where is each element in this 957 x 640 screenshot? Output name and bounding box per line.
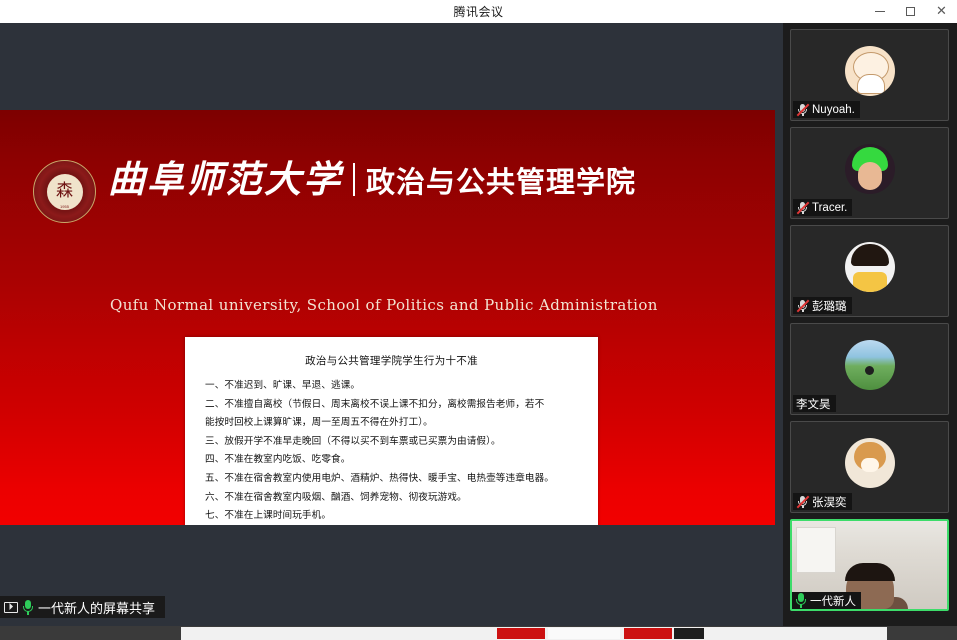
- college-name: 政治与公共管理学院: [366, 169, 636, 198]
- minimize-button[interactable]: [864, 0, 895, 23]
- stage-top-letterbox: [0, 23, 783, 110]
- participant-name-badge: 张淏奕: [793, 493, 852, 510]
- participant-name: 张淏奕: [812, 494, 847, 510]
- document-title: 政治与公共管理学院学生行为十不准: [205, 353, 578, 368]
- mic-off-icon: [796, 299, 809, 313]
- participant-name: Tracer.: [812, 202, 847, 214]
- maximize-button[interactable]: [895, 0, 926, 23]
- mic-off-icon: [796, 495, 809, 509]
- taskbar-peek-strip: [0, 626, 957, 640]
- window-titlebar: 腾讯会议 ✕: [0, 0, 957, 23]
- participant-tile[interactable]: Tracer.: [790, 127, 949, 219]
- taskbar-thumbnail[interactable]: [548, 628, 620, 639]
- document-line: 一、不准迟到、旷课、早退、逃课。: [205, 377, 578, 396]
- participant-tile[interactable]: 李文昊: [790, 323, 949, 415]
- close-button[interactable]: ✕: [926, 0, 957, 23]
- participant-tile-active-speaker[interactable]: 一代新人: [790, 519, 949, 611]
- document-line: 七、不准在上课时间玩手机。: [205, 507, 578, 525]
- screen-share-icon: [4, 602, 18, 613]
- participant-tile[interactable]: 张淏奕: [790, 421, 949, 513]
- avatar: [845, 46, 895, 96]
- participant-name: 李文昊: [796, 396, 831, 412]
- mic-off-icon: [796, 201, 809, 215]
- close-icon: ✕: [936, 5, 947, 18]
- participant-name-badge: 彭璐璐: [793, 297, 852, 314]
- window-title: 腾讯会议: [453, 3, 503, 20]
- title-divider: [353, 163, 355, 196]
- minimize-icon: [875, 11, 885, 12]
- participant-tile[interactable]: 彭璐璐: [790, 225, 949, 317]
- avatar: [845, 340, 895, 390]
- document-line: 四、不准在教室内吃饭、吃零食。: [205, 451, 578, 470]
- maximize-icon: [906, 7, 915, 16]
- taskbar-thumbnail[interactable]: [624, 628, 672, 639]
- participant-name-badge: Tracer.: [793, 199, 852, 216]
- participant-name-badge: 李文昊: [793, 395, 836, 412]
- participant-name-badge: Nuyoah.: [793, 101, 860, 118]
- university-name: 曲阜师范大学: [108, 161, 342, 198]
- university-emblem-icon: 森 1955: [33, 160, 96, 223]
- banner-subtitle: Qufu Normal university, School of Politi…: [110, 296, 658, 314]
- rules-document: 政治与公共管理学院学生行为十不准 一、不准迟到、旷课、早退、逃课。 二、不准擅自…: [185, 337, 598, 525]
- window-controls: ✕: [864, 0, 957, 23]
- whiteboard-background: [796, 527, 836, 573]
- document-line: 能按时回校上课算旷课，周一至周五不得在外打工）。: [205, 414, 578, 433]
- emblem-mark: 森: [56, 183, 73, 200]
- document-line: 三、放假开学不准早走晚回（不得以买不到车票或已买票为由请假）。: [205, 433, 578, 452]
- participant-sidebar[interactable]: Nuyoah. Tracer. 彭璐璐 李文昊: [783, 23, 957, 626]
- participant-name: 彭璐璐: [812, 298, 847, 314]
- emblem-inner: 森 1955: [46, 173, 84, 211]
- presentation-banner: 森 1955 曲阜师范大学 政治与公共管理学院 Qufu Normal univ…: [0, 110, 775, 525]
- participant-name-badge: 一代新人: [792, 592, 861, 609]
- shared-screen-stage[interactable]: 森 1955 曲阜师范大学 政治与公共管理学院 Qufu Normal univ…: [0, 23, 783, 626]
- taskbar-thumbnail[interactable]: [674, 628, 704, 639]
- document-line: 二、不准擅自离校（节假日、周末离校不误上课不扣分，离校需报告老师，若不: [205, 396, 578, 415]
- document-line: 六、不准在宿舍教室内吸烟、酗酒、饲养宠物、彻夜玩游戏。: [205, 489, 578, 508]
- participant-name: Nuyoah.: [812, 104, 855, 116]
- mic-on-icon: [22, 600, 34, 615]
- mic-off-icon: [796, 103, 809, 117]
- avatar: [845, 242, 895, 292]
- participant-name: 一代新人: [810, 593, 856, 609]
- banner-title-row: 曲阜师范大学 政治与公共管理学院: [108, 161, 636, 198]
- hair-shape: [845, 563, 895, 581]
- taskbar-thumbnail[interactable]: [497, 628, 545, 639]
- avatar: [845, 438, 895, 488]
- mic-on-icon: [795, 593, 807, 608]
- emblem-year: 1955: [47, 204, 83, 209]
- screen-share-text: 一代新人的屏幕共享: [38, 598, 155, 617]
- avatar: [845, 144, 895, 194]
- document-line: 五、不准在宿舍教室内使用电炉、酒精炉、热得快、暖手宝、电热壶等违章电器。: [205, 470, 578, 489]
- participant-tile[interactable]: Nuyoah.: [790, 29, 949, 121]
- screen-share-label: 一代新人的屏幕共享: [0, 596, 165, 618]
